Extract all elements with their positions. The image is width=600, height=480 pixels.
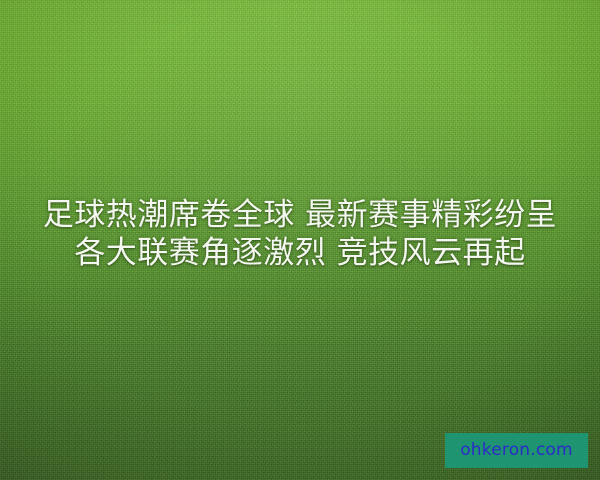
- watermark-badge: ohkeron.com: [445, 433, 588, 468]
- watermark-label: ohkeron.com: [460, 442, 573, 459]
- headline-text: 足球热潮席卷全球 最新赛事精彩纷呈 各大联赛角逐激烈 竞技风云再起: [0, 196, 600, 272]
- banner-image: 足球热潮席卷全球 最新赛事精彩纷呈 各大联赛角逐激烈 竞技风云再起 ohkero…: [0, 0, 600, 480]
